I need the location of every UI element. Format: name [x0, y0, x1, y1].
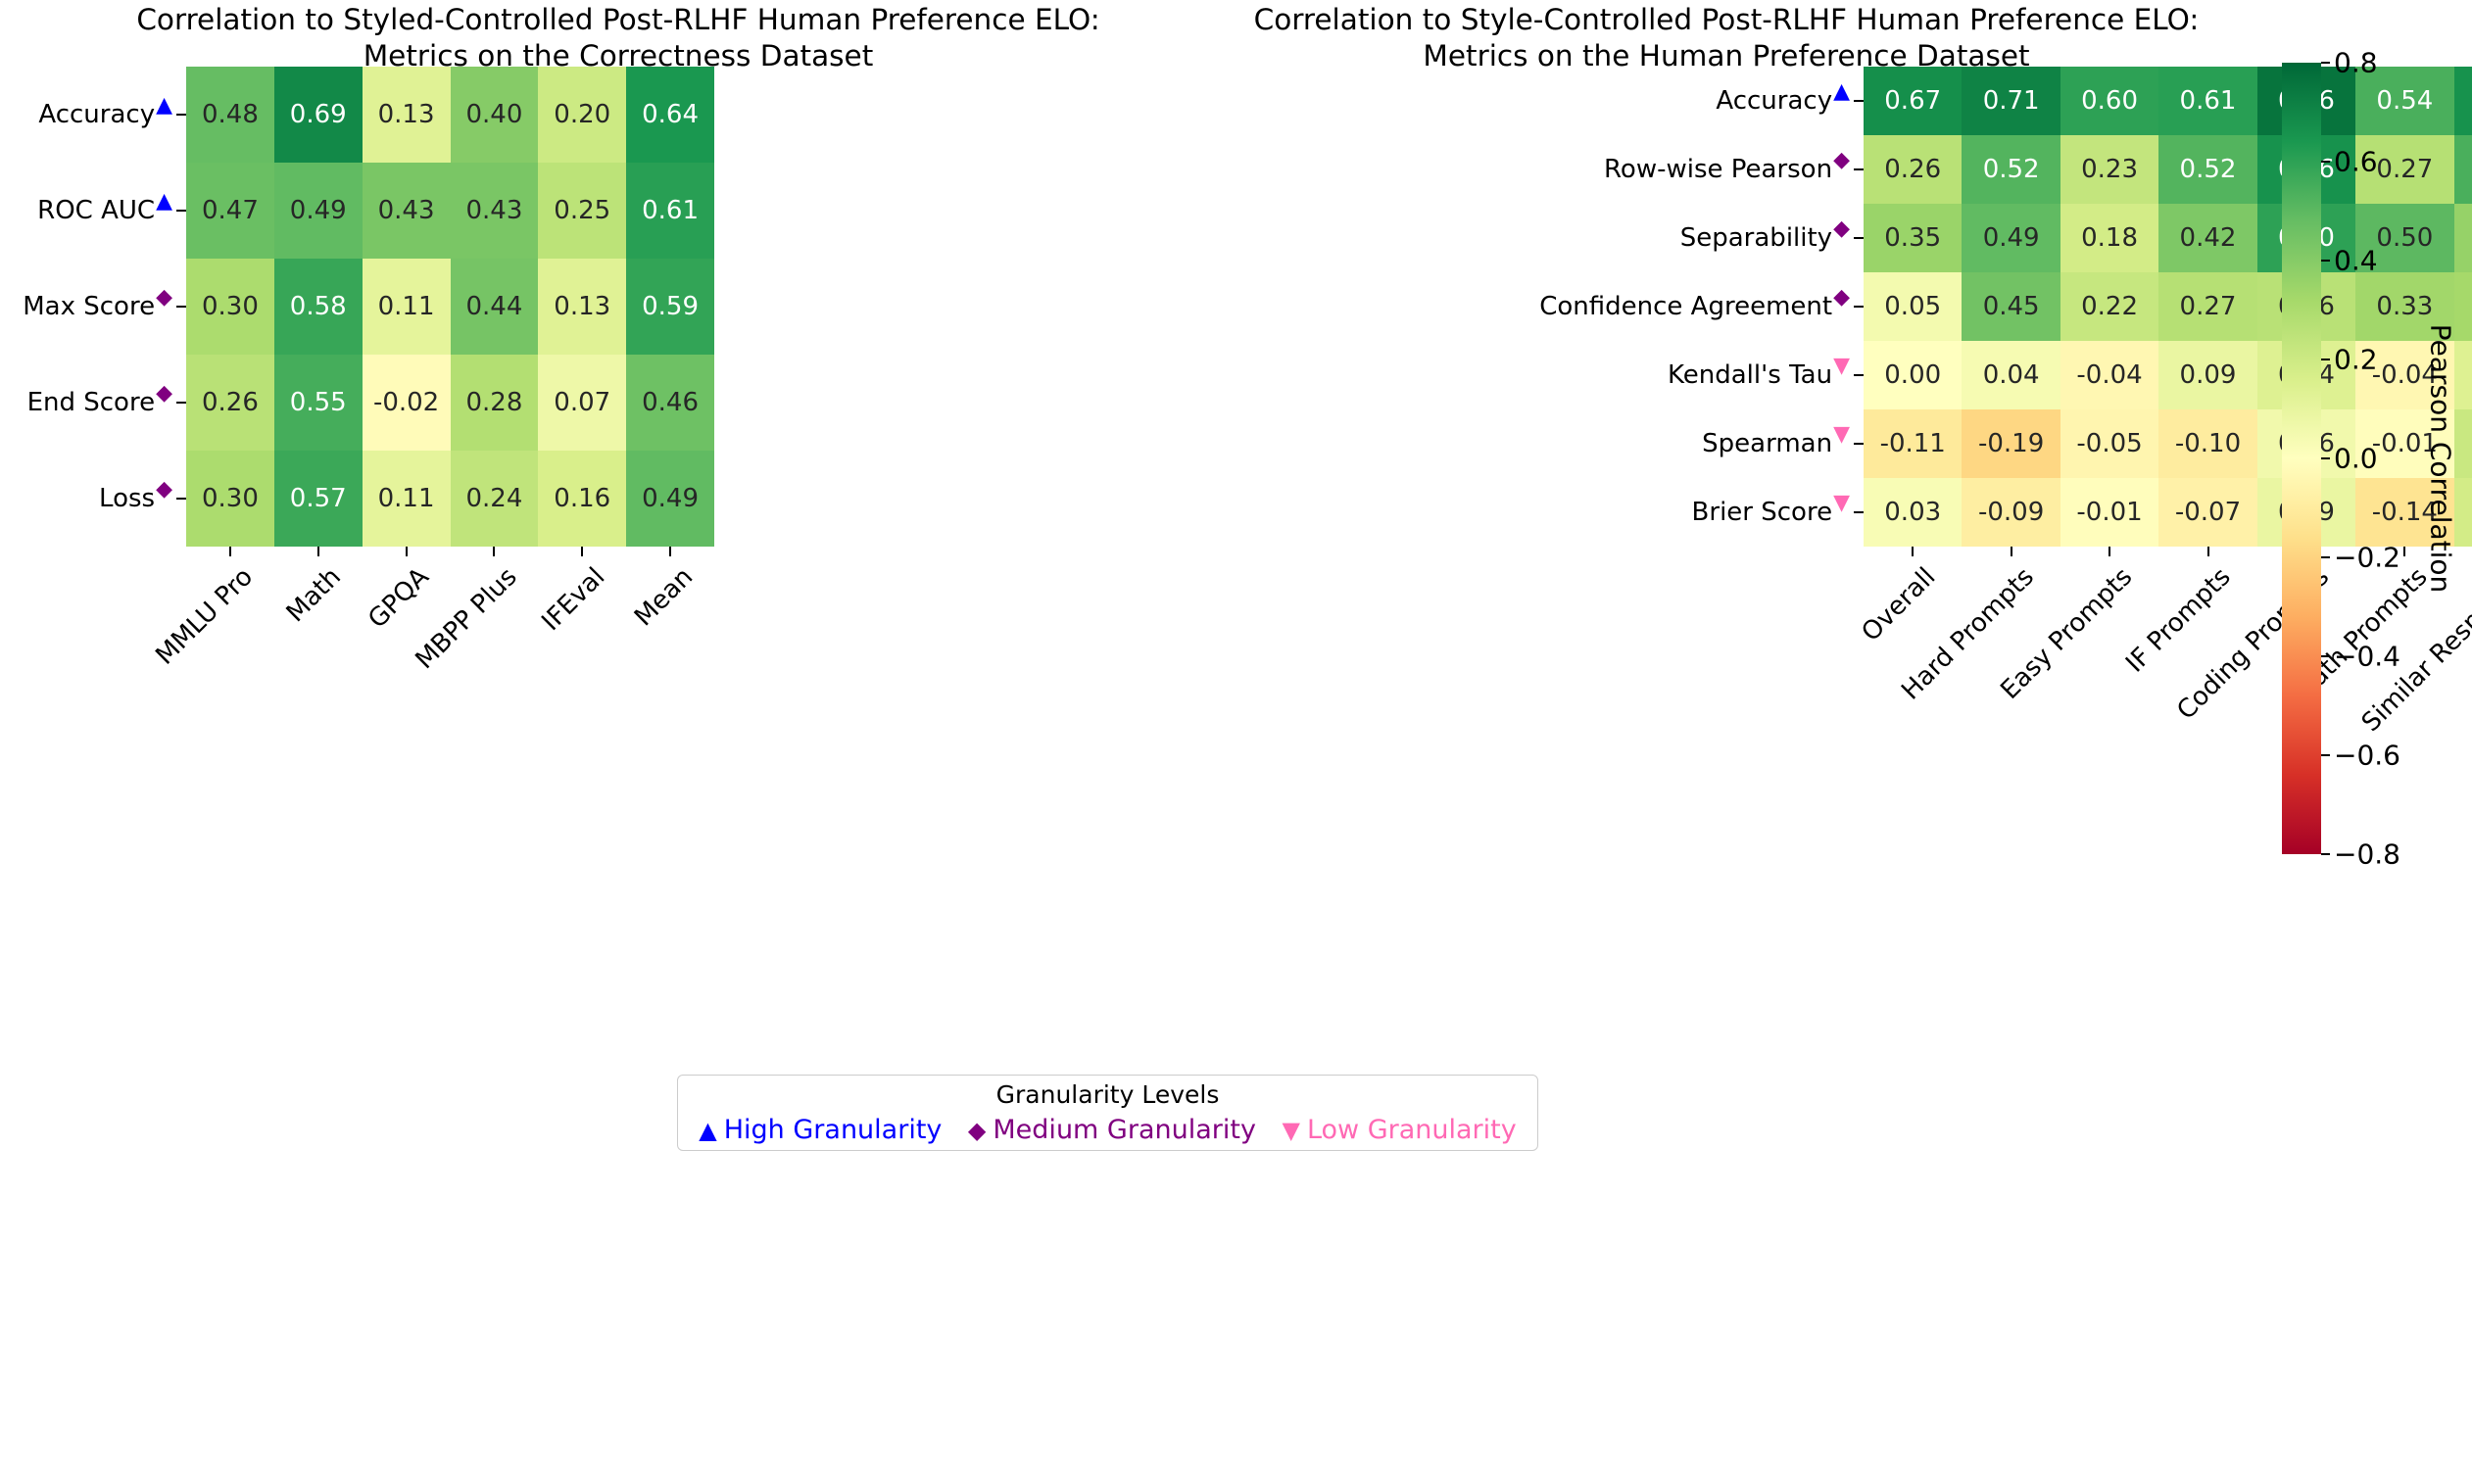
granularity-marker-medium-icon: ◆	[156, 479, 172, 501]
heatmap-cell: -0.09	[1962, 478, 2060, 547]
colorbar-tick	[2321, 161, 2330, 163]
y-axis-tick	[176, 210, 186, 212]
heatmap-cell: 0.03	[1864, 478, 1962, 547]
x-axis-label: IF Prompts	[1524, 562, 2237, 1275]
y-axis-label-text: Separability	[1680, 223, 1832, 253]
x-axis-label: Similar Response	[1610, 562, 2472, 1484]
heatmap-cell: 0.00	[1864, 341, 1962, 409]
heatmap-cell: 0.52	[2158, 135, 2256, 204]
heatmap-cell: 0.58	[274, 259, 363, 355]
y-axis-label-text: Brier Score	[1692, 498, 1833, 527]
x-axis-tick	[669, 547, 671, 556]
y-axis-label-text: ROC AUC	[37, 196, 155, 225]
y-axis-tick	[1854, 306, 1864, 308]
heatmap-panel-human-preference: Correlation to Style-Controlled Post-RLH…	[1236, 0, 2216, 1038]
y-axis-tick	[1854, 237, 1864, 239]
x-axis-tick	[1912, 547, 1914, 556]
heatmap-cell: 0.60	[2060, 67, 2158, 135]
heatmap-cell: 0.26	[1864, 135, 1962, 204]
y-axis-label-text: Loss	[99, 484, 155, 513]
heatmap-cell: -0.01	[2060, 478, 2158, 547]
y-axis-tick	[176, 402, 186, 404]
granularity-marker-low-icon: ▼	[1833, 493, 1850, 514]
y-axis-labels-right: Accuracy▲Row-wise Pearson◆Separability◆C…	[1236, 67, 1864, 547]
colorbar-tick	[2321, 359, 2330, 360]
x-axis-label: IFEval	[172, 562, 610, 1000]
heatmap-cell: 0.11	[363, 451, 451, 547]
heatmap-cell: 0.18	[2060, 204, 2158, 272]
legend-marker-icon: ▼	[1282, 1119, 1299, 1142]
heatmap-cell: 0.45	[1962, 272, 2060, 341]
legend-entries: ▲High Granularity◆Medium Granularity▼Low…	[686, 1115, 1529, 1145]
granularity-marker-high-icon: ▲	[1833, 81, 1850, 103]
granularity-marker-high-icon: ▲	[156, 95, 172, 117]
legend-entry: ▲High Granularity	[699, 1115, 942, 1145]
y-axis-label: Spearman▼	[1702, 429, 1850, 458]
legend-marker-icon: ◆	[968, 1119, 986, 1142]
y-axis-tick	[1854, 374, 1864, 376]
x-axis-tick	[229, 547, 231, 556]
heatmap-cell: 0.42	[2158, 204, 2256, 272]
heatmap-cell: 0.13	[538, 259, 626, 355]
heatmap-cell: 0.67	[1864, 67, 1962, 135]
heatmap-cell: 0.22	[2060, 272, 2158, 341]
y-axis-tick	[1854, 100, 1864, 102]
colorbar-tick	[2321, 655, 2330, 657]
colorbar-tick-label: −0.6	[2334, 740, 2400, 772]
colorbar-tick	[2321, 457, 2330, 459]
y-axis-label: Confidence Agreement◆	[1539, 292, 1850, 321]
colorbar-tick	[2321, 260, 2330, 262]
y-axis-label-text: End Score	[27, 388, 156, 417]
heatmap-cell: 0.54	[2454, 135, 2472, 204]
heatmap-cell: 0.36	[2454, 204, 2472, 272]
x-axis-tick	[2011, 547, 2012, 556]
heatmap-cell: 0.69	[274, 67, 363, 163]
heatmap-cell: 0.40	[451, 67, 539, 163]
heatmap-cell: -0.02	[363, 355, 451, 451]
y-axis-label: Separability◆	[1680, 223, 1850, 253]
y-axis-label: Loss◆	[99, 484, 172, 513]
colorbar-axis-label: Pearson Correlation	[2425, 324, 2457, 594]
heatmap-cell: 0.27	[2158, 272, 2256, 341]
colorbar-tick	[2321, 556, 2330, 558]
y-axis-label: Kendall's Tau▼	[1668, 360, 1850, 390]
heatmap-cell: 0.55	[274, 355, 363, 451]
y-axis-label-text: Max Score	[23, 292, 155, 321]
y-axis-label: Brier Score▼	[1692, 498, 1850, 527]
y-axis-label-text: Confidence Agreement	[1539, 292, 1832, 321]
y-axis-label: ROC AUC▲	[37, 196, 172, 225]
colorbar-tick-label: 0.2	[2334, 344, 2378, 376]
colorbar-gradient	[2282, 63, 2321, 854]
heatmap-cell: 0.28	[451, 355, 539, 451]
legend-entry-label: Low Granularity	[1307, 1115, 1517, 1145]
y-axis-labels-left: Accuracy▲ROC AUC▲Max Score◆End Score◆Los…	[0, 67, 186, 547]
colorbar-tick-label: 0.4	[2334, 245, 2378, 277]
panel-title-right: Correlation to Style-Controlled Post-RLH…	[1236, 2, 2216, 74]
heatmap-cell: 0.44	[451, 259, 539, 355]
granularity-marker-low-icon: ▼	[1833, 424, 1850, 446]
x-axis-tick	[317, 547, 319, 556]
y-axis-tick	[1854, 443, 1864, 445]
heatmap-cell: 0.35	[1864, 204, 1962, 272]
granularity-marker-low-icon: ▼	[1833, 356, 1850, 377]
heatmap-cell: 0.11	[363, 259, 451, 355]
y-axis-label: Row-wise Pearson◆	[1604, 155, 1850, 184]
heatmap-cell: 0.05	[1864, 272, 1962, 341]
y-axis-label-text: Kendall's Tau	[1668, 360, 1832, 390]
colorbar-tick-label: −0.8	[2334, 838, 2400, 871]
heatmap-cell: 0.49	[626, 451, 714, 547]
heatmap-cell: -0.19	[1962, 409, 2060, 478]
heatmap-cell: 0.25	[538, 163, 626, 259]
heatmap-cell: 0.07	[538, 355, 626, 451]
x-axis-tick	[2403, 547, 2405, 556]
colorbar-tick-label: −0.4	[2334, 641, 2400, 673]
y-axis-tick	[1854, 511, 1864, 513]
y-axis-label: Accuracy▲	[1716, 86, 1850, 116]
colorbar-tick	[2321, 754, 2330, 756]
heatmap-cell: 0.59	[626, 259, 714, 355]
x-axis-tick	[2207, 547, 2209, 556]
heatmap-cell: -0.07	[2158, 478, 2256, 547]
x-axis-tick	[406, 547, 408, 556]
heatmap-panel-correctness: Correlation to Styled-Controlled Post-RL…	[0, 0, 1236, 1038]
y-axis-label: Max Score◆	[23, 292, 172, 321]
heatmap-cell: 0.30	[186, 451, 274, 547]
y-axis-label-text: Accuracy	[38, 100, 155, 129]
colorbar-tick	[2321, 62, 2330, 64]
heatmap-cell: 0.43	[451, 163, 539, 259]
y-axis-tick	[176, 498, 186, 500]
x-axis-label: Easy Prompts	[1494, 562, 2138, 1206]
y-axis-label: Accuracy▲	[38, 100, 172, 129]
granularity-marker-medium-icon: ◆	[1833, 218, 1850, 240]
y-axis-tick	[176, 114, 186, 116]
heatmap-cell: 0.49	[274, 163, 363, 259]
panel-title-left: Correlation to Styled-Controlled Post-RL…	[0, 2, 1236, 74]
legend-entry-label: High Granularity	[724, 1115, 943, 1145]
colorbar-tick-label: −0.2	[2334, 542, 2400, 574]
heatmap-cell: 0.71	[1962, 67, 2060, 135]
y-axis-label: End Score◆	[27, 388, 172, 417]
heatmap-cell: -0.05	[2060, 409, 2158, 478]
heatmap-cell: 0.61	[626, 163, 714, 259]
granularity-marker-medium-icon: ◆	[1833, 287, 1850, 309]
heatmap-cell: 0.61	[2158, 67, 2256, 135]
colorbar	[2282, 63, 2321, 854]
heatmap-cell: -0.10	[2158, 409, 2256, 478]
heatmap-cell: 0.46	[626, 355, 714, 451]
x-axis-tick	[581, 547, 583, 556]
heatmap-cell: 0.20	[538, 67, 626, 163]
x-axis-label: Coding Prompts	[1552, 562, 2335, 1345]
heatmap-cell: 0.26	[186, 355, 274, 451]
heatmap-cell: 0.52	[1962, 135, 2060, 204]
heatmap-cell: 0.49	[1962, 204, 2060, 272]
heatmap-grid-human-preference: 0.670.710.600.610.760.540.660.260.520.23…	[1864, 67, 2472, 547]
heatmap-cell: 0.64	[626, 67, 714, 163]
x-axis-tick	[493, 547, 495, 556]
y-axis-tick	[1854, 168, 1864, 170]
colorbar-tick	[2321, 853, 2330, 855]
y-axis-label-text: Accuracy	[1716, 86, 1832, 116]
heatmap-cell: 0.66	[2454, 67, 2472, 135]
legend-entry: ◆Medium Granularity	[968, 1115, 1256, 1145]
heatmap-cell: 0.57	[274, 451, 363, 547]
x-axis-tick	[2108, 547, 2110, 556]
heatmap-cell: 0.16	[538, 451, 626, 547]
y-axis-label-text: Spearman	[1702, 429, 1832, 458]
legend-title: Granularity Levels	[678, 1080, 1537, 1109]
heatmap-cell: 0.43	[363, 163, 451, 259]
heatmap-cell: -0.11	[1864, 409, 1962, 478]
legend-entry-label: Medium Granularity	[993, 1115, 1256, 1145]
heatmap-cell: 0.23	[2060, 135, 2158, 204]
heatmap-grid-correctness: 0.480.690.130.400.200.640.470.490.430.43…	[186, 67, 714, 547]
legend-marker-icon: ▲	[699, 1119, 716, 1142]
heatmap-cell: 0.47	[186, 163, 274, 259]
y-axis-label-text: Row-wise Pearson	[1604, 155, 1832, 184]
granularity-marker-high-icon: ▲	[156, 191, 172, 213]
figure-canvas: Correlation to Styled-Controlled Post-RL…	[0, 0, 2472, 1175]
heatmap-cell: 0.30	[186, 259, 274, 355]
granularity-marker-medium-icon: ◆	[156, 287, 172, 309]
colorbar-tick-label: 0.0	[2334, 443, 2378, 475]
granularity-legend: Granularity Levels ▲High Granularity◆Med…	[677, 1075, 1538, 1151]
heatmap-cell: 0.48	[186, 67, 274, 163]
y-axis-tick	[176, 306, 186, 308]
granularity-marker-medium-icon: ◆	[156, 383, 172, 405]
heatmap-cell: -0.04	[2060, 341, 2158, 409]
heatmap-cell: 0.13	[363, 67, 451, 163]
granularity-marker-medium-icon: ◆	[1833, 150, 1850, 171]
heatmap-cell: 0.04	[1962, 341, 2060, 409]
legend-entry: ▼Low Granularity	[1282, 1115, 1516, 1145]
heatmap-cell: 0.09	[2158, 341, 2256, 409]
colorbar-tick-label: 0.6	[2334, 146, 2378, 178]
heatmap-cell: 0.24	[451, 451, 539, 547]
colorbar-tick-label: 0.8	[2334, 47, 2378, 79]
